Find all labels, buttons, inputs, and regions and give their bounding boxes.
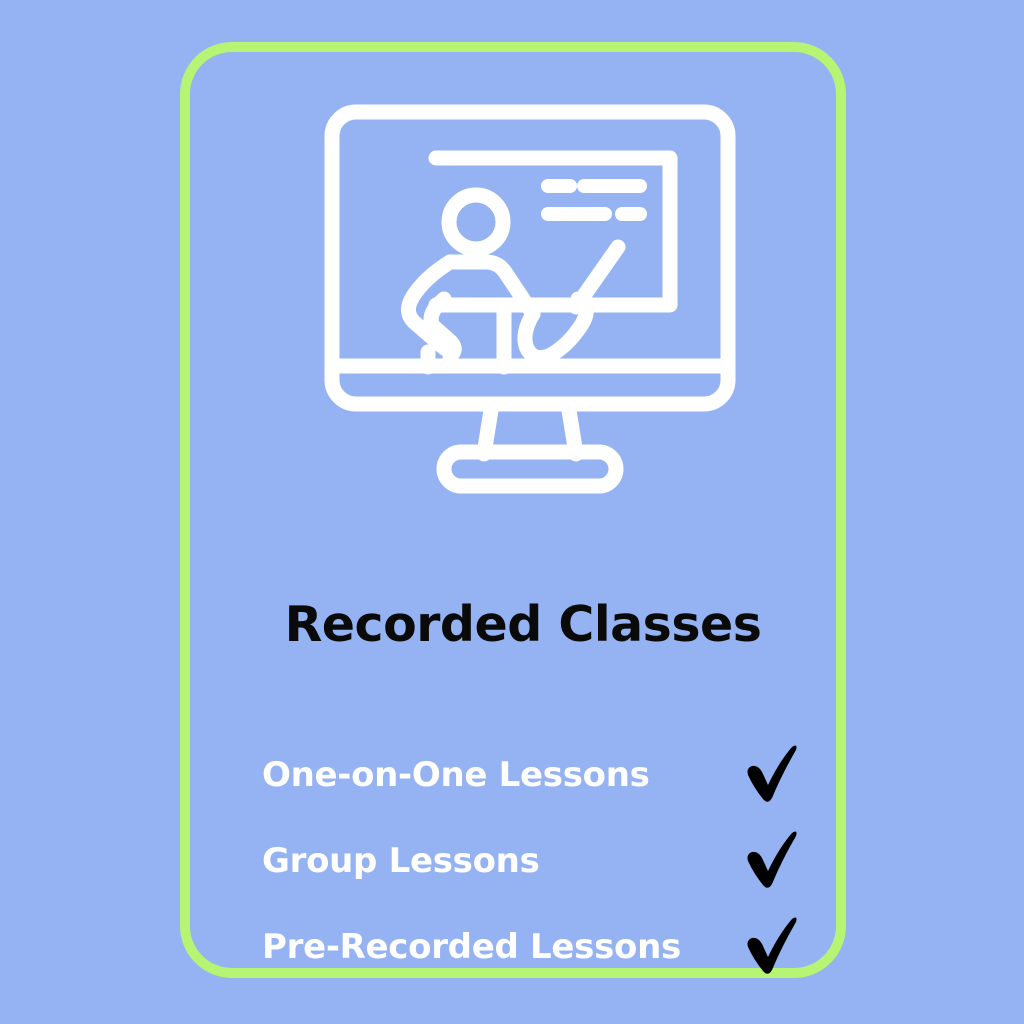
online-class-monitor-illustration bbox=[320, 102, 740, 497]
check-icon bbox=[740, 830, 802, 892]
teacher-head bbox=[449, 195, 503, 249]
page-title: Recorded Classes bbox=[190, 600, 856, 649]
slide-canvas: Recorded Classes One-on-One Lessons Grou… bbox=[0, 0, 1024, 1024]
whiteboard-text-lines bbox=[548, 186, 640, 214]
check-icon bbox=[740, 744, 802, 806]
feature-row-pre-recorded: Pre-Recorded Lessons bbox=[262, 904, 802, 990]
check-icon bbox=[740, 916, 802, 978]
recorded-classes-card: Recorded Classes One-on-One Lessons Grou… bbox=[180, 42, 846, 978]
monitor-base bbox=[444, 452, 616, 486]
feature-row-one-on-one: One-on-One Lessons bbox=[262, 732, 802, 818]
feature-row-group: Group Lessons bbox=[262, 818, 802, 904]
feature-label: Group Lessons bbox=[262, 841, 540, 881]
feature-list: One-on-One Lessons Group Lessons Pre-Rec… bbox=[262, 732, 802, 990]
feature-label: One-on-One Lessons bbox=[262, 755, 650, 795]
feature-label: Pre-Recorded Lessons bbox=[262, 927, 681, 967]
